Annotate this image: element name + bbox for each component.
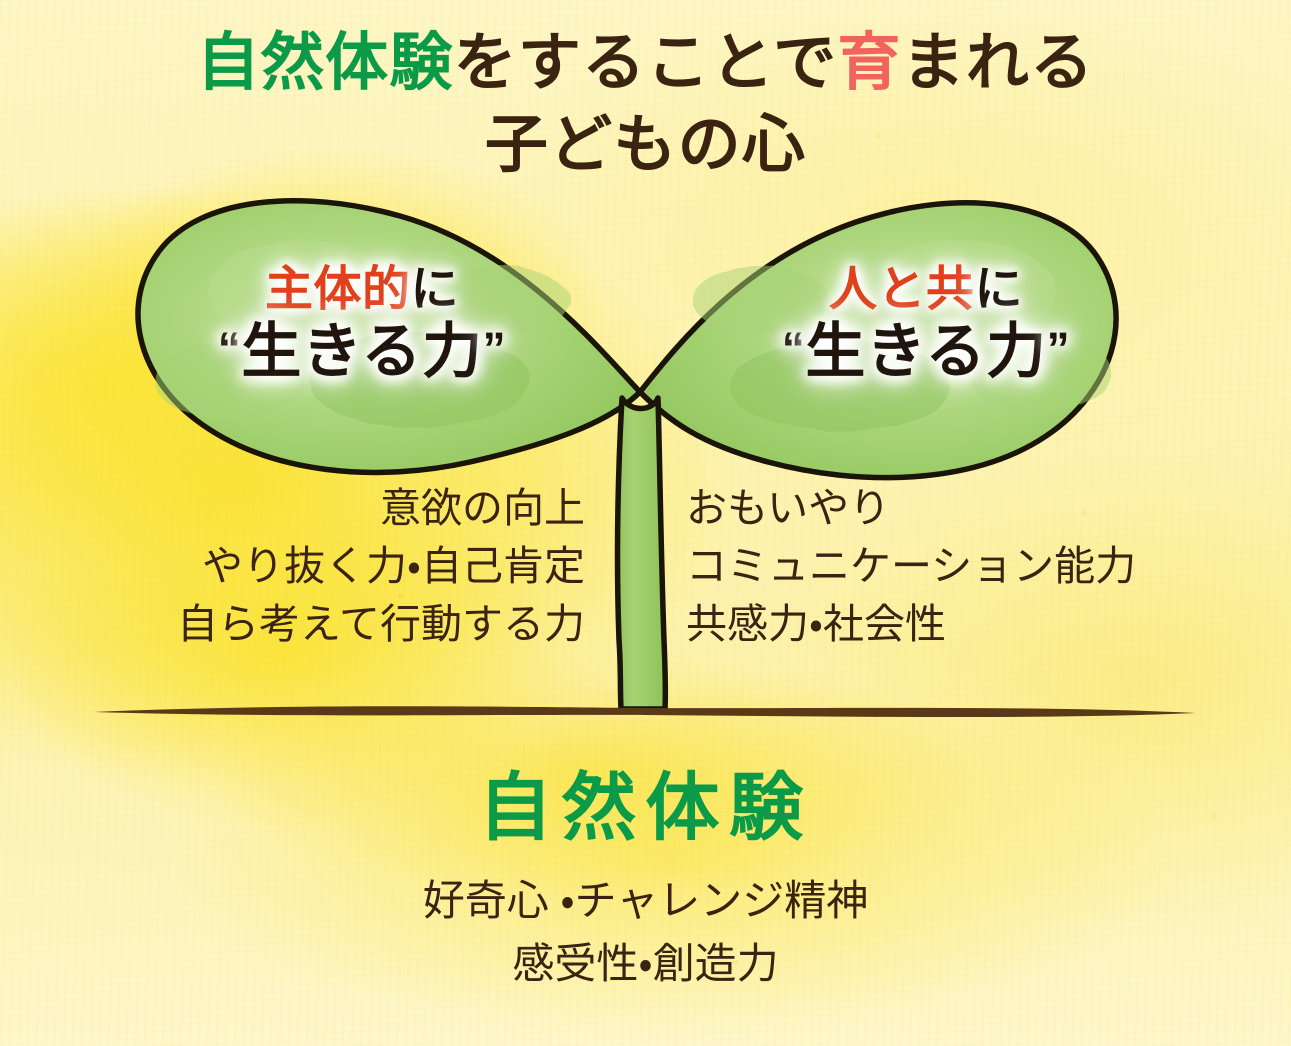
left-leaf-emphasis-text: 主体的 bbox=[265, 263, 410, 316]
left-leaf-emphasis-suffix: に bbox=[410, 263, 458, 316]
nature-experience-item: 感受性・創造力 bbox=[0, 932, 1291, 995]
right-leaf-phrase: 生きる力 bbox=[805, 318, 1046, 385]
left-leaf-caption: 主体的に “生きる力” bbox=[152, 265, 572, 383]
right-skill-item: おもいやり bbox=[686, 479, 1286, 537]
page-title-line2: 子どもの心 bbox=[0, 108, 1291, 182]
left-leaf-phrase-line: “生きる力” bbox=[152, 321, 572, 383]
right-leaf-emphasis-line: 人と共に bbox=[716, 265, 1136, 315]
left-skills-column: 意欲の向上 やり抜く力・自己肯定 自ら考えて行動する力 bbox=[0, 479, 605, 654]
right-skill-item: コミュニケーション能力 bbox=[686, 537, 1286, 595]
left-skill-item: 自ら考えて行動する力 bbox=[0, 595, 585, 653]
left-leaf-emphasis-line: 主体的に bbox=[152, 265, 572, 315]
left-skill-item: 意欲の向上 bbox=[0, 479, 585, 537]
nature-experience-list: 好奇心 ・チャレンジ精神 感受性・創造力 bbox=[0, 869, 1291, 995]
infographic-canvas: 自然体験をすることで育まれる 子どもの心 bbox=[0, 0, 1291, 1046]
right-leaf-quote-close: ” bbox=[1047, 323, 1071, 375]
right-leaf-emphasis-text: 人と共 bbox=[829, 263, 974, 316]
right-skill-item: 共感力・社会性 bbox=[686, 595, 1286, 653]
right-leaf-quote-open: “ bbox=[782, 323, 806, 375]
right-skills-column: おもいやり コミュニケーション能力 共感力・社会性 bbox=[686, 479, 1286, 654]
right-leaf-caption: 人と共に “生きる力” bbox=[716, 265, 1136, 383]
page-title-tail-part: まれる bbox=[902, 28, 1095, 98]
page-title: 自然体験をすることで育まれる 子どもの心 bbox=[0, 26, 1291, 183]
page-title-mid-part: をすることで bbox=[454, 28, 838, 98]
right-leaf-emphasis-suffix: に bbox=[974, 263, 1022, 316]
left-leaf-quote-open: “ bbox=[218, 323, 242, 375]
page-title-green-part: 自然体験 bbox=[197, 28, 454, 98]
right-leaf-phrase-line: “生きる力” bbox=[716, 321, 1136, 383]
left-skill-item: やり抜く力・自己肯定 bbox=[0, 537, 585, 595]
left-leaf-quote-close: ” bbox=[483, 323, 507, 375]
left-leaf-phrase: 生きる力 bbox=[241, 318, 482, 385]
page-title-coral-part: 育 bbox=[837, 28, 901, 98]
nature-experience-item: 好奇心 ・チャレンジ精神 bbox=[0, 869, 1291, 932]
nature-experience-title: 自然体験 bbox=[0, 748, 1291, 855]
